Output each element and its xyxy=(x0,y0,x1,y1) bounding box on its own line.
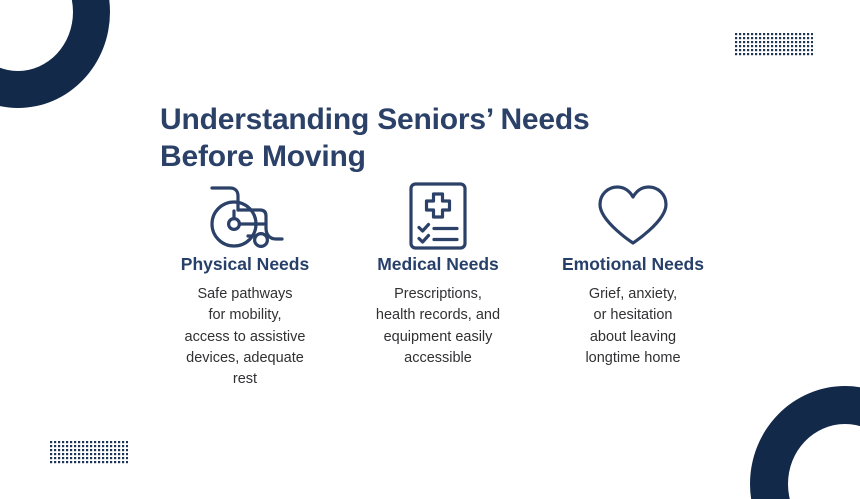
ring-arc-bottom-right xyxy=(750,386,860,499)
heart-icon xyxy=(536,178,730,254)
needs-column-heading: Physical Needs xyxy=(150,254,340,275)
slide-title: Understanding Seniors’ Needs Before Movi… xyxy=(160,102,700,175)
slide-title-line-1: Understanding Seniors’ Needs xyxy=(160,102,700,139)
dot-grid-top-right xyxy=(735,33,813,57)
needs-columns: Physical Needs Safe pathways for mobilit… xyxy=(150,178,730,391)
needs-column-physical: Physical Needs Safe pathways for mobilit… xyxy=(150,178,340,391)
needs-column-heading: Medical Needs xyxy=(340,254,536,275)
needs-column-body: Prescriptions, health records, and equip… xyxy=(340,284,536,369)
needs-column-medical: Medical Needs Prescriptions, health reco… xyxy=(340,178,536,369)
medical-clipboard-icon xyxy=(340,178,536,254)
ring-arc-top-left xyxy=(0,0,110,108)
slide-canvas: Understanding Seniors’ Needs Before Movi… xyxy=(0,0,860,499)
needs-column-heading: Emotional Needs xyxy=(536,254,730,275)
dot-grid-bottom-left xyxy=(50,441,128,465)
slide-title-line-2: Before Moving xyxy=(160,139,700,176)
needs-column-emotional: Emotional Needs Grief, anxiety, or hesit… xyxy=(536,178,730,369)
needs-column-body: Grief, anxiety, or hesitation about leav… xyxy=(536,284,730,369)
needs-column-body: Safe pathways for mobility, access to as… xyxy=(150,284,340,391)
wheelchair-icon xyxy=(150,178,340,254)
